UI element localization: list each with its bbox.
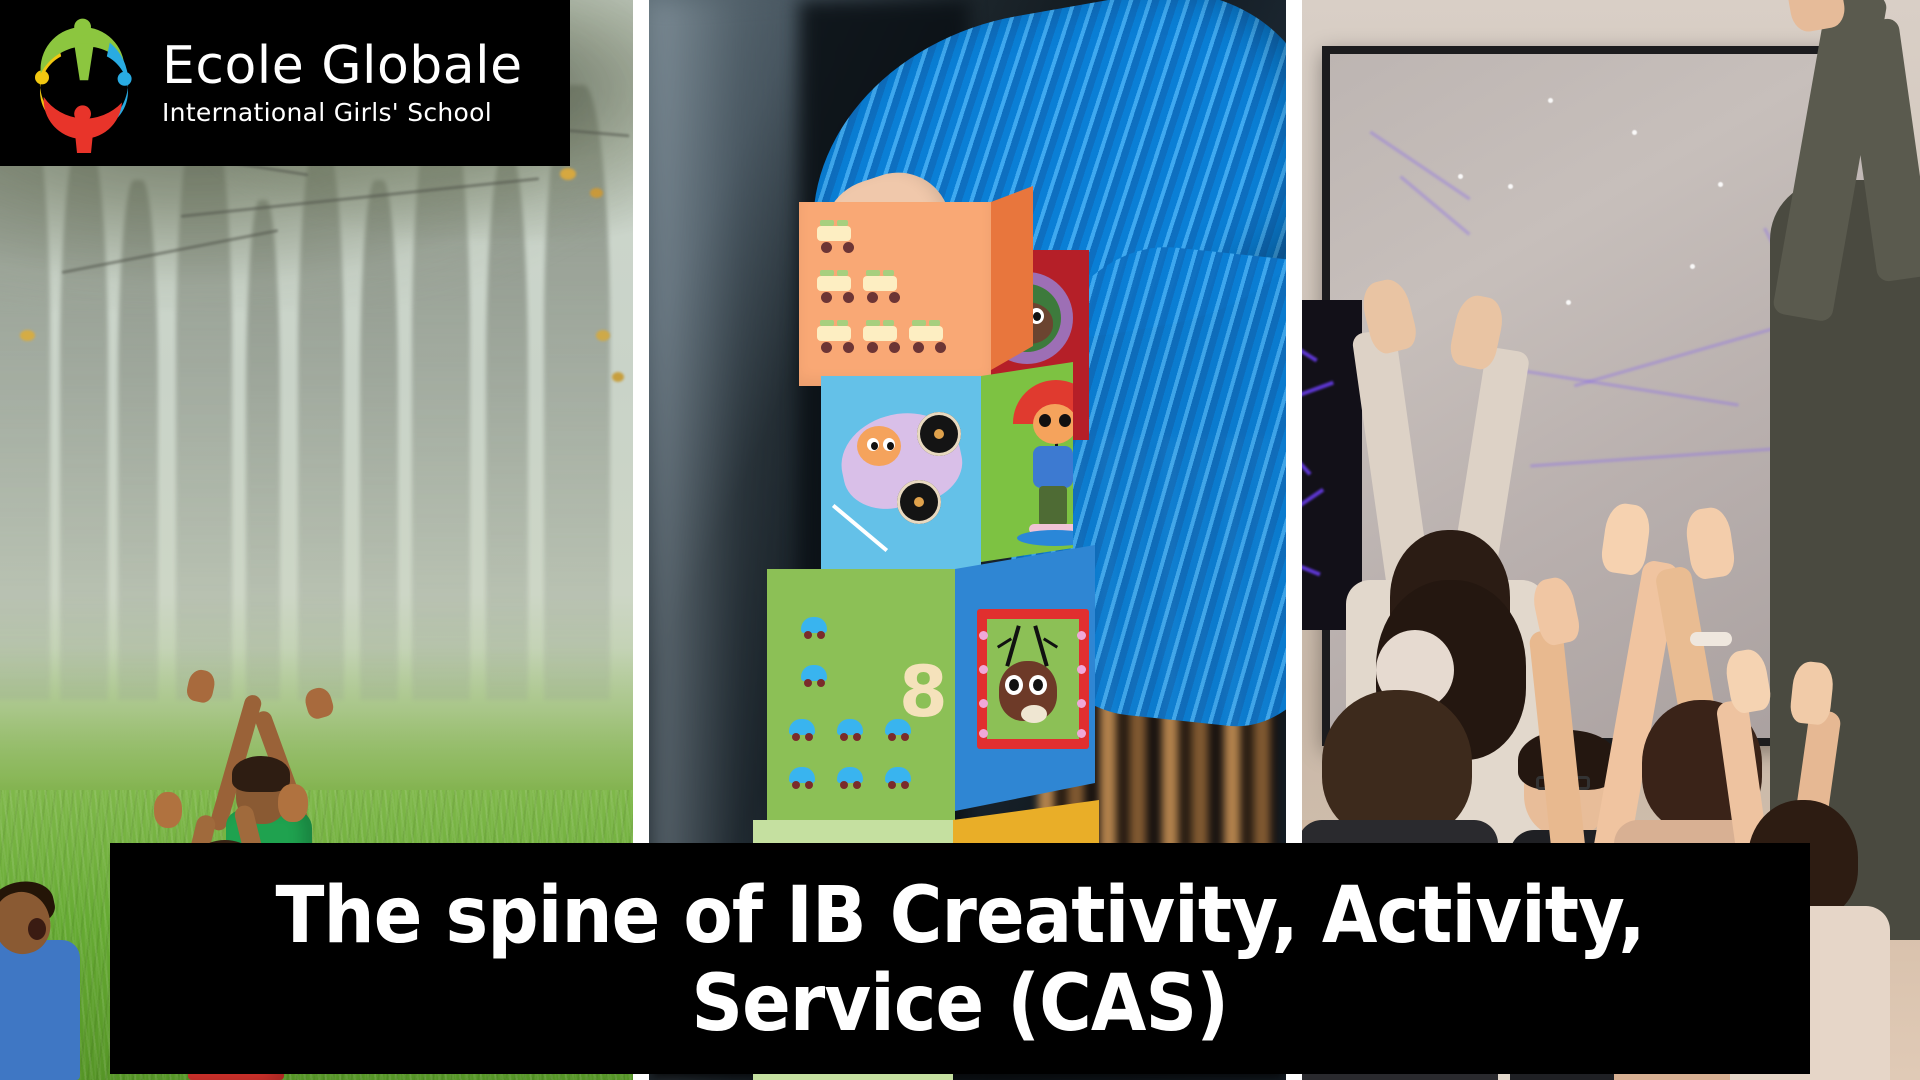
- title-line-1: The spine of IB Creativity, Activity,: [275, 873, 1644, 960]
- title-banner: The spine of IB Creativity, Activity, Se…: [110, 843, 1810, 1074]
- block-number-eight: 8: [767, 545, 1097, 835]
- logo-text-block: Ecole Globale International Girls' Schoo…: [162, 39, 523, 127]
- school-tagline: International Girls' School: [162, 98, 523, 127]
- four-people-circle-logo-icon: [14, 13, 154, 153]
- block-orange-buses: [799, 186, 999, 386]
- school-name: Ecole Globale: [162, 39, 523, 94]
- child-blue-shirt: [0, 850, 110, 1080]
- title-line-2: Service (CAS): [692, 961, 1229, 1048]
- promo-graphic: 8: [0, 0, 1920, 1080]
- school-logo-card: Ecole Globale International Girls' Schoo…: [0, 0, 570, 166]
